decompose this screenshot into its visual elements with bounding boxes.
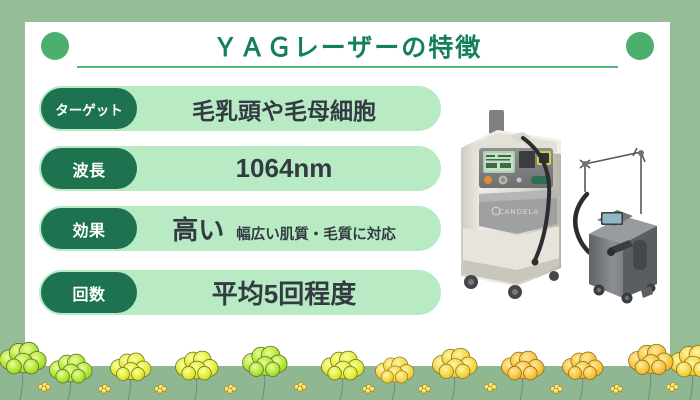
- spec-value-sessions: 平均5回程度: [212, 274, 356, 311]
- green-dot-icon-left: [41, 32, 69, 60]
- card-header: ＹＡＧレーザーの特徴: [25, 22, 670, 74]
- spec-value-wrap-target: 毛乳頭や毛母細胞: [137, 92, 441, 126]
- spec-row-target: ターゲット 毛乳頭や毛母細胞: [39, 86, 441, 131]
- content-card: ＹＡＧレーザーの特徴 ターゲット 毛乳頭や毛母細胞 波長 1064nm 効果 高…: [25, 22, 670, 367]
- spec-row-sessions: 回数 平均5回程度: [39, 270, 441, 315]
- spec-value-wrap-effect: 高い 幅広い肌質・毛質に対応: [137, 210, 441, 247]
- device-illustrations: CANDELA: [443, 102, 668, 337]
- spec-label-wavelength: 波長: [41, 148, 137, 189]
- svg-text:CANDELA: CANDELA: [499, 208, 540, 216]
- spec-value-effect: 高い: [172, 210, 224, 247]
- spec-label-sessions: 回数: [41, 272, 137, 313]
- flower-decoration: [0, 330, 700, 400]
- laser-machine-large-icon: CANDELA: [453, 110, 569, 300]
- spec-value-wrap-sessions: 平均5回程度: [137, 274, 441, 311]
- page-background: ＹＡＧレーザーの特徴 ターゲット 毛乳頭や毛母細胞 波長 1064nm 効果 高…: [0, 0, 700, 400]
- title-underline: [77, 66, 618, 68]
- spec-subvalue-effect: 幅広い肌質・毛質に対応: [236, 223, 396, 244]
- page-title: ＹＡＧレーザーの特徴: [85, 28, 610, 64]
- spec-value-wrap-wavelength: 1064nm: [137, 153, 441, 184]
- spec-label-effect: 効果: [41, 208, 137, 249]
- spec-value-wavelength: 1064nm: [236, 153, 333, 184]
- spec-value-target: 毛乳頭や毛母細胞: [192, 92, 376, 126]
- spec-row-effect: 効果 高い 幅広い肌質・毛質に対応: [39, 206, 441, 251]
- spec-row-wavelength: 波長 1064nm: [39, 146, 441, 191]
- spec-label-target: ターゲット: [41, 88, 137, 129]
- laser-machine-small-icon: [571, 144, 663, 304]
- green-dot-icon-right: [626, 32, 654, 60]
